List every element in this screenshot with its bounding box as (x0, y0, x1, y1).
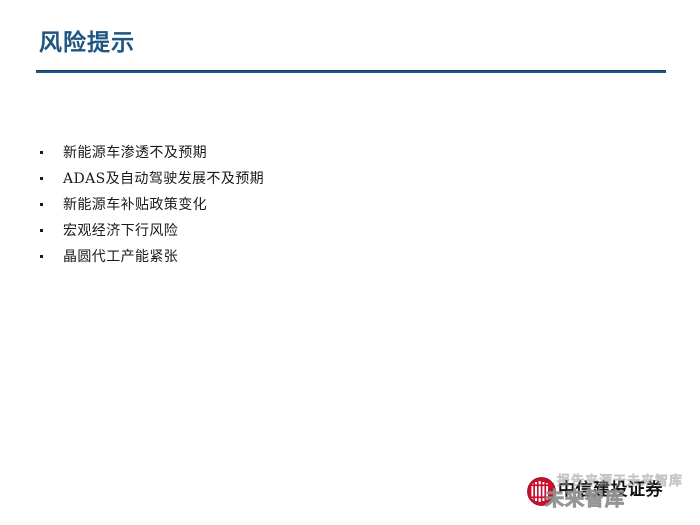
footer-logo: 中信建投证券 (527, 477, 687, 511)
list-item: 新能源车渗透不及预期 (36, 140, 636, 166)
list-item: 晶圆代工产能紧张 (36, 244, 636, 270)
bullet-dot-icon (40, 255, 43, 258)
title-underline-divider (36, 70, 666, 73)
bullet-dot-icon (40, 203, 43, 206)
list-item: 新能源车补贴政策变化 (36, 192, 636, 218)
page-title: 风险提示 (39, 28, 135, 58)
list-item: 宏观经济下行风险 (36, 218, 636, 244)
list-item-label: 宏观经济下行风险 (63, 223, 178, 239)
list-item-label: 新能源车渗透不及预期 (63, 145, 207, 161)
logo-wordmark-label: 中信建投证券 (558, 479, 663, 501)
list-item-label: 新能源车补贴政策变化 (63, 197, 207, 213)
bullet-dot-icon (40, 177, 43, 180)
slide-canvas: 风险提示 新能源车渗透不及预期 ADAS及自动驾驶发展不及预期 新能源车补贴政策… (0, 0, 700, 525)
bullet-dot-icon (40, 151, 43, 154)
list-item-label: 晶圆代工产能紧张 (63, 249, 178, 265)
citic-circular-emblem-icon (527, 477, 556, 506)
risk-bullet-list: 新能源车渗透不及预期 ADAS及自动驾驶发展不及预期 新能源车补贴政策变化 宏观… (36, 140, 636, 270)
list-item-label: ADAS及自动驾驶发展不及预期 (63, 171, 264, 187)
bullet-dot-icon (40, 229, 43, 232)
list-item: ADAS及自动驾驶发展不及预期 (36, 166, 636, 192)
